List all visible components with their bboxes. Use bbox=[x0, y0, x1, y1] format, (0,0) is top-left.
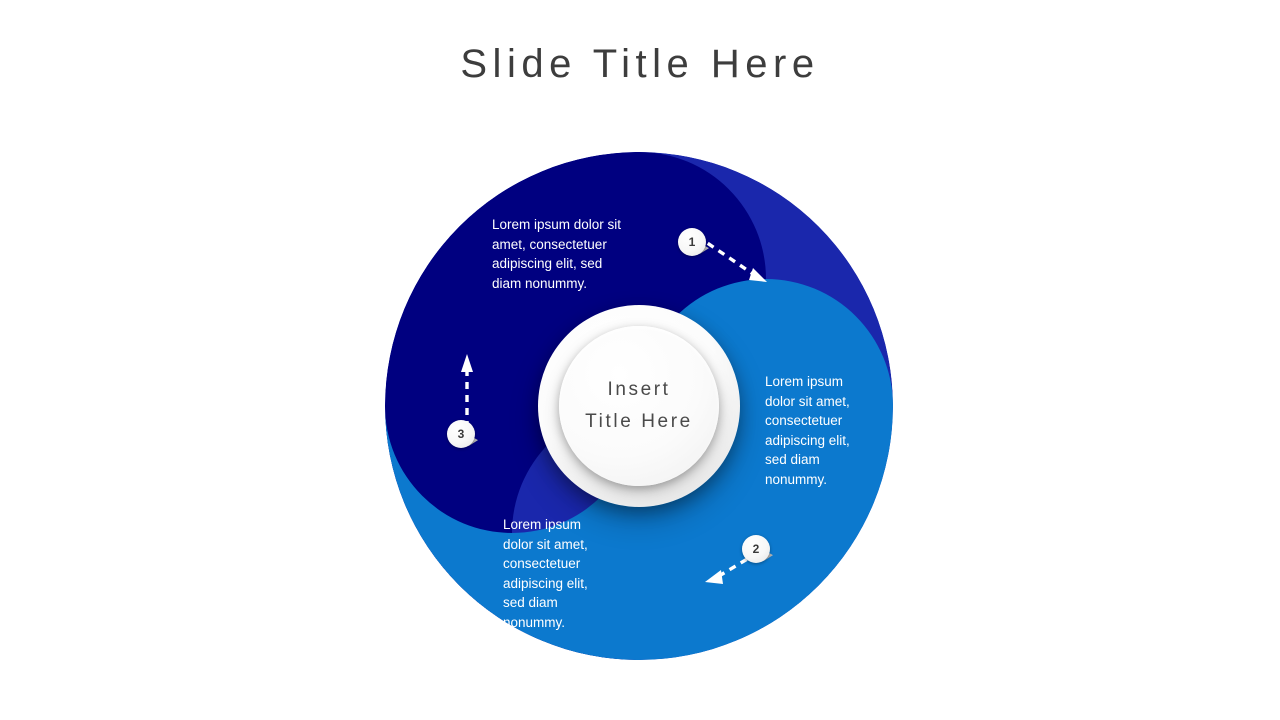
segment-2-text[interactable]: Lorem ipsum dolor sit amet, consectetuer… bbox=[765, 372, 875, 489]
segment-1-marker-number: 1 bbox=[678, 228, 706, 256]
slide-canvas: Slide Title Here Insert Title Here bbox=[0, 0, 1280, 720]
segment-3-marker[interactable]: 3 bbox=[447, 420, 475, 448]
segment-1-arrow-icon bbox=[695, 232, 775, 292]
segment-3-text[interactable]: Lorem ipsum dolor sit amet, consectetuer… bbox=[503, 515, 613, 632]
circular-diagram: Insert Title Here Lorem ipsum dolor sit … bbox=[385, 152, 893, 660]
segment-1-text[interactable]: Lorem ipsum dolor sit amet, consectetuer… bbox=[492, 215, 692, 293]
page-title[interactable]: Slide Title Here bbox=[0, 42, 1280, 87]
segment-2-marker[interactable]: 2 bbox=[742, 535, 770, 563]
center-hub-label: Insert Title Here bbox=[585, 374, 693, 438]
segment-3-arrow-icon bbox=[447, 350, 487, 430]
center-hub-inner: Insert Title Here bbox=[559, 326, 719, 486]
segment-1-marker[interactable]: 1 bbox=[678, 228, 706, 256]
segment-3-marker-number: 3 bbox=[447, 420, 475, 448]
center-hub[interactable]: Insert Title Here bbox=[538, 305, 740, 507]
segment-2-marker-number: 2 bbox=[742, 535, 770, 563]
